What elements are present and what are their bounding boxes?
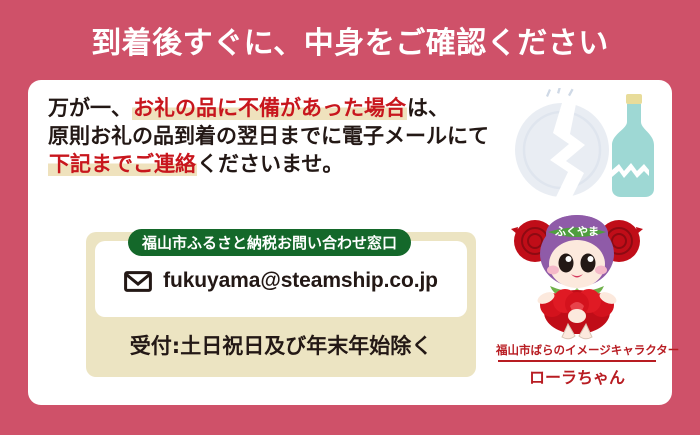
cracked-bottle-icon — [612, 94, 654, 197]
impact-ticks-icon — [546, 88, 574, 97]
damaged-goods-illustration — [506, 88, 666, 208]
contact-inner-panel: 福山市ふるさと納税お問い合わせ窓口 fukuyama@steamship.co.… — [95, 241, 467, 317]
notice-line-1-emphasis: お礼の品に不備があった場合 — [132, 96, 407, 120]
hat-text: ふくやま — [555, 225, 599, 238]
broken-plate-icon — [515, 103, 609, 197]
notice-line-2: 原則お礼の品到着の翌日までに電子メールにて — [48, 126, 498, 147]
banner-title: 到着後すぐに、中身をご確認ください — [91, 18, 609, 62]
mascot-name: ローラちゃん — [496, 364, 658, 388]
notice-paragraph: 万が一、お礼の品に不備があった場合は、 原則お礼の品到着の翌日までに電子メールに… — [48, 98, 498, 182]
contact-box: 福山市ふるさと納税お問い合わせ窓口 fukuyama@steamship.co.… — [86, 232, 476, 377]
notice-line-1-plain-a: 万が一、 — [48, 96, 132, 120]
notice-line-3: 下記までご連絡くださいませ。 — [48, 154, 498, 175]
envelope-icon — [124, 271, 152, 292]
damaged-goods-svg — [506, 88, 666, 208]
rola-chan-svg: ふくやま — [508, 208, 646, 340]
email-address[interactable]: fukuyama@steamship.co.jp — [163, 269, 438, 293]
business-hours: 受付:土日祝日及び年末年始除く — [86, 330, 476, 360]
header-banner: 到着後すぐに、中身をご確認ください — [0, 0, 700, 80]
page-root: 到着後すぐに、中身をご確認ください 万が一、お礼の品に不備があった場合は、 原則… — [0, 0, 700, 435]
notice-line-3-emphasis: 下記までご連絡 — [48, 152, 197, 176]
notice-line-1: 万が一、お礼の品に不備があった場合は、 — [48, 98, 498, 119]
mascot-caption-line1: 福山市ばらのイメージキャラクター — [496, 342, 658, 358]
email-row[interactable]: fukuyama@steamship.co.jp — [95, 269, 467, 293]
mascot-caption-divider — [498, 360, 656, 362]
notice-line-2-text: 原則お礼の品到着の翌日までに電子メールにて — [48, 124, 489, 148]
mascot-illustration: ふくやま — [508, 208, 646, 340]
contact-desk-pill: 福山市ふるさと納税お問い合わせ窓口 — [128, 229, 411, 256]
mascot-block: ふくやま — [496, 208, 658, 398]
notice-line-1-plain-b: は、 — [407, 96, 449, 120]
contact-desk-label: 福山市ふるさと納税お問い合わせ窓口 — [142, 232, 397, 253]
notice-card: 万が一、お礼の品に不備があった場合は、 原則お礼の品到着の翌日までに電子メールに… — [28, 80, 672, 405]
notice-line-3-plain: くださいませ。 — [197, 152, 343, 176]
mascot-caption: 福山市ばらのイメージキャラクター ローラちゃん — [496, 342, 658, 388]
